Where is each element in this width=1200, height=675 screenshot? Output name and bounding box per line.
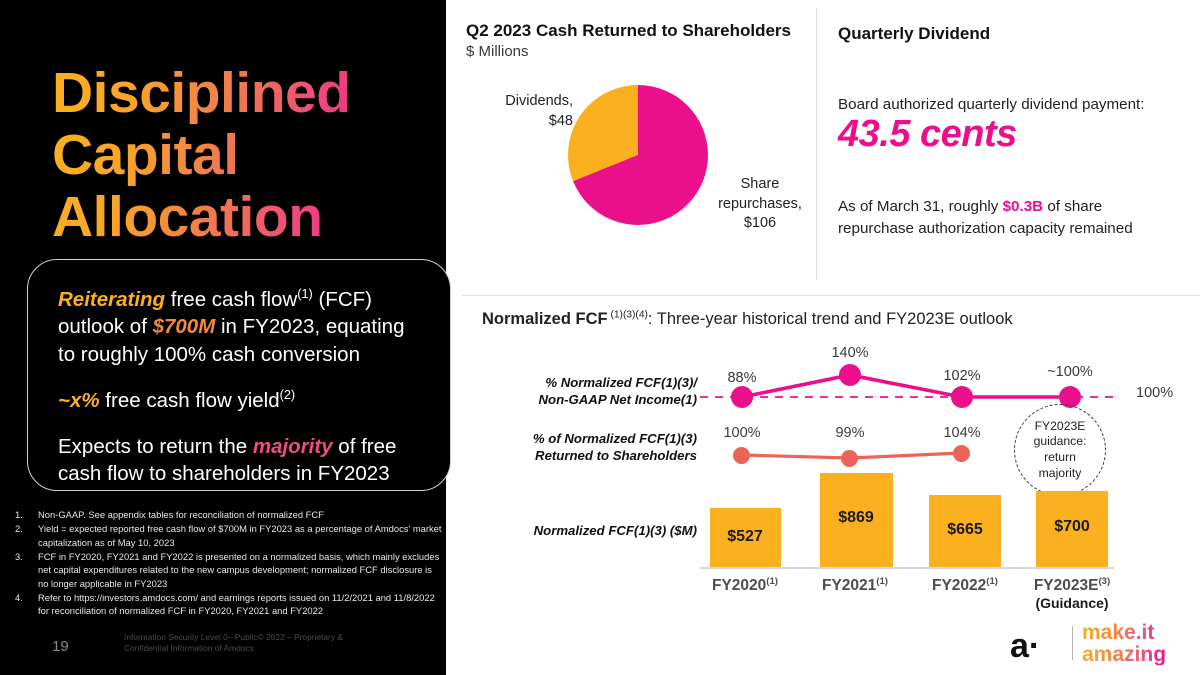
callout-p3-text-a: Expects to return the <box>58 435 253 458</box>
logo-divider <box>1072 626 1073 660</box>
highlights-callout-box: Reiterating free cash flow(1) (FCF) outl… <box>27 259 451 491</box>
annotation-line-4: majority <box>1034 466 1087 482</box>
x-label-text-fy2020: FY2020 <box>712 577 766 594</box>
pie-chart <box>568 85 708 225</box>
pie-chart-slices <box>568 85 708 225</box>
bar-value-fy2021: $869 <box>816 509 896 527</box>
x-label-text-fy2023e: FY2023E <box>1034 577 1099 594</box>
footnote-number: 3. <box>12 550 38 590</box>
row2-label-line1: % of Normalized FCF(1)(3) <box>455 430 697 447</box>
coral-data-point-fy2021 <box>841 450 858 467</box>
amdocs-logo-mark: a· <box>1010 627 1040 666</box>
page-number: 19 <box>52 638 69 655</box>
pink-value-fy2020: 88% <box>712 370 772 386</box>
pie-label-dividends-value: $48 <box>493 112 573 132</box>
pie-label-share-line1: Share <box>714 175 806 195</box>
vertical-divider <box>816 8 817 280</box>
row-label-fcf-returned: % of Normalized FCF(1)(3) Returned to Sh… <box>455 430 697 465</box>
fcf-section-title-rest: : Three-year historical trend and FY2023… <box>648 310 1013 328</box>
row1-label-line1: % Normalized FCF(1)(3)/ <box>455 374 697 391</box>
pink-value-fy2022: 102% <box>932 368 992 384</box>
buyback-amount: $0.3B <box>1003 198 1044 215</box>
bar-value-fy2023e: $700 <box>1032 518 1112 536</box>
annotation-line-2: guidance: <box>1034 434 1087 450</box>
row1-label-line2: Non-GAAP Net Income(1) <box>455 391 697 408</box>
row-label-normalized-fcf: Normalized FCF(1)(3) ($M) <box>455 522 697 539</box>
callout-paragraph-3: Expects to return the majority of free c… <box>58 433 420 488</box>
annotation-line-1: FY2023E <box>1034 419 1087 435</box>
dividend-amount: 43.5 cents <box>838 113 1017 156</box>
title-line-2: Capital <box>52 124 412 186</box>
pink-value-fy2021: 140% <box>820 345 880 361</box>
x-label-guidance-note: (Guidance) <box>1018 595 1126 611</box>
pie-label-share-value: $106 <box>714 214 806 234</box>
pie-chart-title: Q2 2023 Cash Returned to Shareholders <box>466 21 791 41</box>
logo-tagline-line1: make.it <box>1082 622 1166 644</box>
coral-value-fy2022: 104% <box>932 425 992 441</box>
coral-value-fy2021: 99% <box>820 425 880 441</box>
horizontal-divider <box>462 295 1200 296</box>
reference-line-label: 100% <box>1136 385 1173 401</box>
pie-label-share-repurchases: Share repurchases, $106 <box>714 175 806 234</box>
dividend-statement: Board authorized quarterly dividend paym… <box>838 96 1144 113</box>
chart-baseline <box>700 567 1114 569</box>
pink-data-point-fy2021 <box>839 364 861 386</box>
pie-label-share-line2: repurchases, <box>714 195 806 215</box>
bar-value-fy2020: $527 <box>705 528 785 546</box>
buyback-text-a: As of March 31, roughly <box>838 198 1003 215</box>
pie-chart-subtitle: $ Millions <box>466 43 529 60</box>
pink-value-fy2023e: ~100% <box>1040 364 1100 380</box>
footnote-number: 1. <box>12 508 38 521</box>
logo-tagline-line2: amazing <box>1082 644 1166 666</box>
callout-emphasis-reiterating: Reiterating <box>58 288 165 311</box>
title-line-3: Allocation <box>52 186 412 248</box>
coral-data-point-fy2022 <box>953 445 970 462</box>
footnote-number: 2. <box>12 522 38 549</box>
callout-emphasis-yield: ~x% <box>58 389 100 412</box>
footnote-item: 2. Yield = expected reported free cash f… <box>12 522 442 549</box>
callout-emphasis-majority: majority <box>253 435 333 458</box>
x-axis-label-fy2022: FY2022(1) <box>911 577 1019 595</box>
footnote-text: Non-GAAP. See appendix tables for reconc… <box>38 508 442 521</box>
row-label-fcf-over-net-income: % Normalized FCF(1)(3)/ Non-GAAP Net Inc… <box>455 374 697 409</box>
callout-p2-footnote-ref: (2) <box>280 387 296 402</box>
callout-paragraph-2: ~x% free cash flow yield(2) <box>58 387 420 414</box>
fy2023e-guidance-annotation: FY2023E guidance: return majority <box>1014 404 1106 496</box>
footnote-item: 4. Refer to https://investors.amdocs.com… <box>12 591 442 618</box>
page-title: Disciplined Capital Allocation <box>52 62 412 248</box>
callout-p1-footnote-ref: (1) <box>297 286 313 301</box>
x-label-text-fy2021: FY2021 <box>822 577 876 594</box>
pink-data-point-fy2020 <box>731 386 753 408</box>
footnote-text: FCF in FY2020, FY2021 and FY2022 is pres… <box>38 550 442 590</box>
x-axis-label-fy2023e: FY2023E(3) (Guidance) <box>1018 577 1126 611</box>
callout-p1-text-b: free cash flow <box>165 288 297 311</box>
x-axis-label-fy2020: FY2020(1) <box>691 577 799 595</box>
coral-data-point-fy2020 <box>733 447 750 464</box>
x-label-sup-fy2020: (1) <box>766 576 778 587</box>
x-axis-label-fy2021: FY2021(1) <box>801 577 909 595</box>
footnote-item: 3. FCF in FY2020, FY2021 and FY2022 is p… <box>12 550 442 590</box>
footnote-text: Refer to https://investors.amdocs.com/ a… <box>38 591 442 618</box>
title-line-1: Disciplined <box>52 62 412 124</box>
fcf-section-title: Normalized FCF (1)(3)(4): Three-year his… <box>482 310 1013 329</box>
buyback-capacity-statement: As of March 31, roughly $0.3B of share r… <box>838 196 1168 240</box>
confidentiality-notice: Information Security Level 0– Public© 20… <box>124 632 374 655</box>
footnote-list: 1. Non-GAAP. See appendix tables for rec… <box>12 508 442 619</box>
slide: Disciplined Capital Allocation Reiterati… <box>0 0 1200 675</box>
coral-value-fy2020: 100% <box>712 425 772 441</box>
quarterly-dividend-title: Quarterly Dividend <box>838 24 990 44</box>
amdocs-logo: a· make.it amazing <box>1010 622 1190 668</box>
callout-paragraph-1: Reiterating free cash flow(1) (FCF) outl… <box>58 286 420 368</box>
fcf-section-title-bold: Normalized FCF <box>482 310 608 328</box>
footnote-text: Yield = expected reported free cash flow… <box>38 522 442 549</box>
left-black-panel: Disciplined Capital Allocation Reiterati… <box>0 0 446 675</box>
annotation-line-3: return <box>1034 450 1087 466</box>
x-label-text-fy2022: FY2022 <box>932 577 986 594</box>
callout-p2-text-b: free cash flow yield <box>100 389 280 412</box>
footnote-number: 4. <box>12 591 38 618</box>
x-label-sup-fy2021: (1) <box>876 576 888 587</box>
pie-label-dividends: Dividends, $48 <box>493 92 573 131</box>
pink-data-point-fy2022 <box>951 386 973 408</box>
fcf-section-footnote-refs: (1)(3)(4) <box>608 310 648 321</box>
callout-emphasis-700m: $700M <box>153 315 216 338</box>
pie-label-dividends-line1: Dividends, <box>493 92 573 112</box>
bar-value-fy2022: $665 <box>925 521 1005 539</box>
row2-label-line2: Returned to Shareholders <box>455 447 697 464</box>
footnote-item: 1. Non-GAAP. See appendix tables for rec… <box>12 508 442 521</box>
x-label-sup-fy2022: (1) <box>986 576 998 587</box>
pink-line-series <box>742 375 1070 397</box>
logo-tagline: make.it amazing <box>1082 622 1166 665</box>
x-label-sup-fy2023e: (3) <box>1098 576 1110 587</box>
